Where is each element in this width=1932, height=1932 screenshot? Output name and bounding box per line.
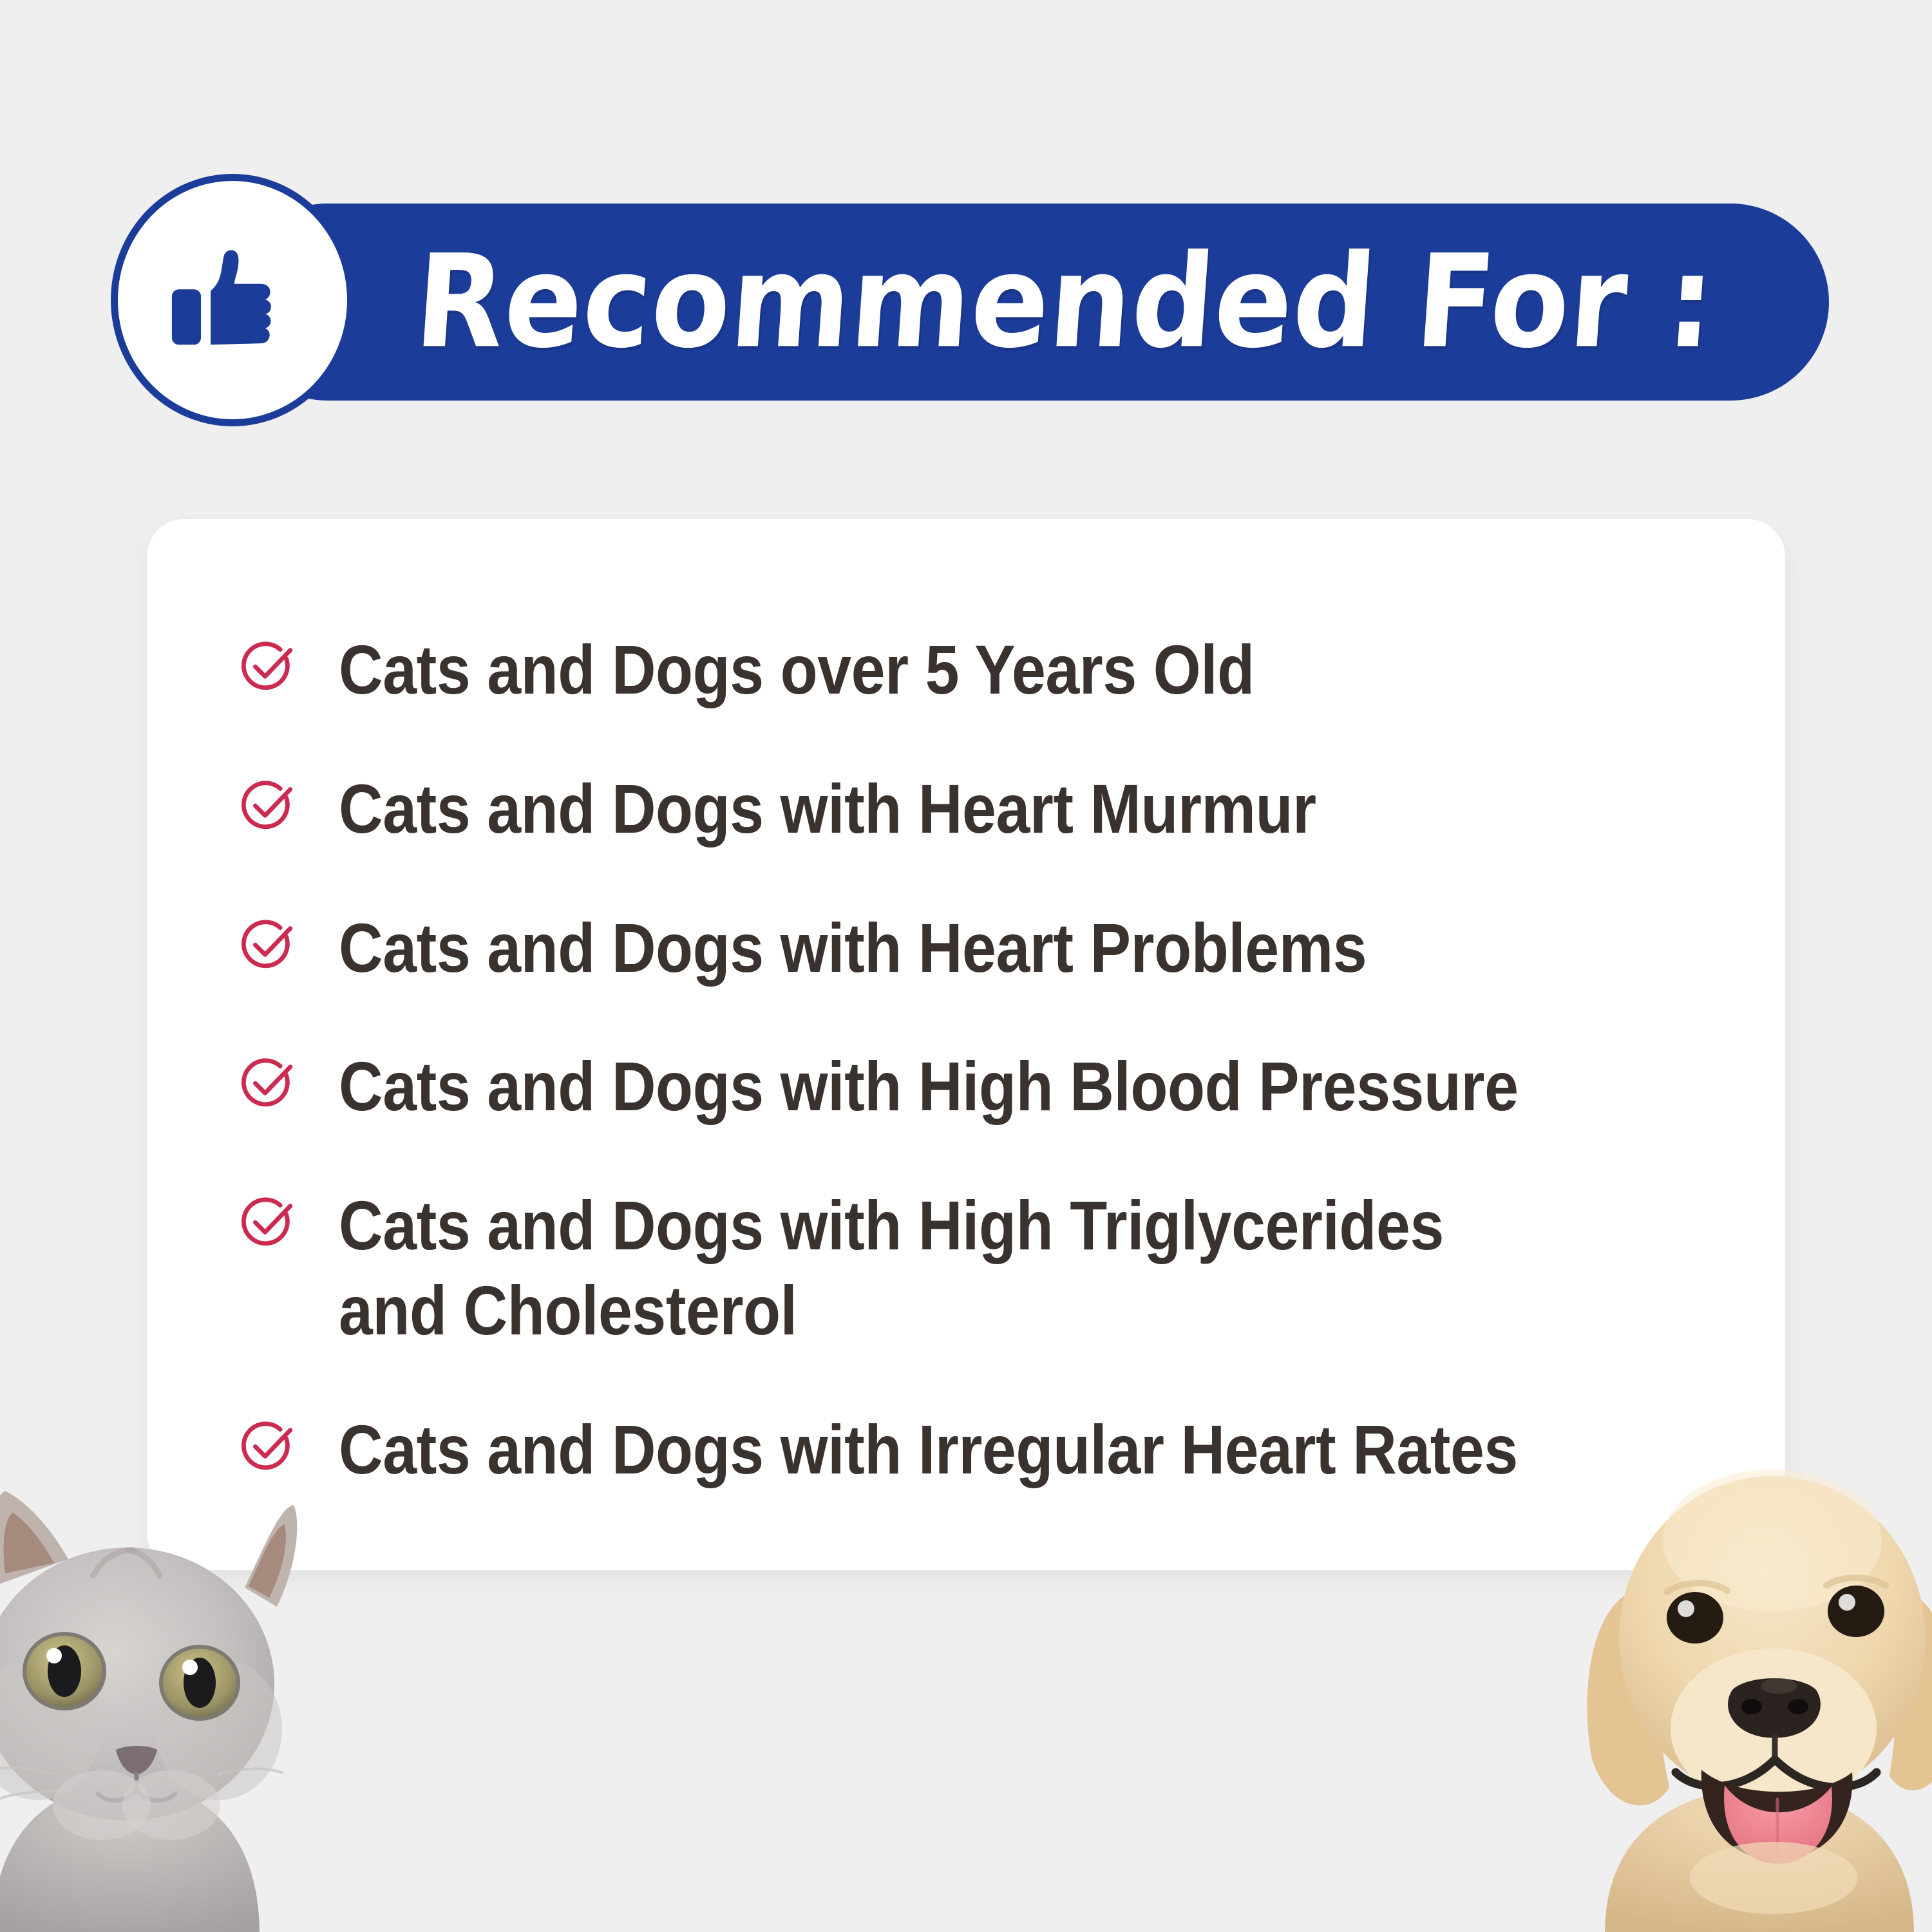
page-title: Recommended For : (412, 238, 1719, 366)
check-circle-icon (237, 1192, 299, 1254)
recommendation-card: Cats and Dogs over 5 Years Old Cats and … (147, 519, 1785, 1570)
recommendation-list: Cats and Dogs over 5 Years Old Cats and … (237, 627, 1759, 1492)
check-circle-icon (237, 636, 299, 698)
list-item-label: Cats and Dogs with Irregular Heart Rates (339, 1407, 1518, 1492)
list-item-label: Cats and Dogs with High Blood Pressure (339, 1044, 1519, 1129)
check-circle-icon (237, 1416, 299, 1478)
check-circle-icon (237, 1053, 299, 1115)
thumbs-up-icon (164, 231, 302, 370)
list-item-label: Cats and Dogs with High Triglycerides an… (339, 1183, 1444, 1353)
list-item-label: Cats and Dogs with Heart Murmur (339, 766, 1316, 851)
list-item-label: Cats and Dogs over 5 Years Old (339, 627, 1255, 712)
check-circle-icon (237, 775, 299, 837)
list-item: Cats and Dogs with High Triglycerides an… (237, 1183, 1759, 1353)
check-circle-icon (237, 914, 299, 976)
list-item: Cats and Dogs with Irregular Heart Rates (237, 1407, 1759, 1492)
header-banner: Recommended For : (229, 204, 1829, 401)
list-item: Cats and Dogs over 5 Years Old (237, 627, 1759, 712)
list-item: Cats and Dogs with Heart Murmur (237, 766, 1759, 851)
list-item: Cats and Dogs with High Blood Pressure (237, 1044, 1759, 1129)
list-item-label: Cats and Dogs with Heart Problems (339, 905, 1367, 990)
thumbs-up-badge (111, 174, 354, 426)
list-item: Cats and Dogs with Heart Problems (237, 905, 1759, 990)
recommended-for-card: Recommended For : Cats and Dogs over (0, 0, 1932, 1932)
